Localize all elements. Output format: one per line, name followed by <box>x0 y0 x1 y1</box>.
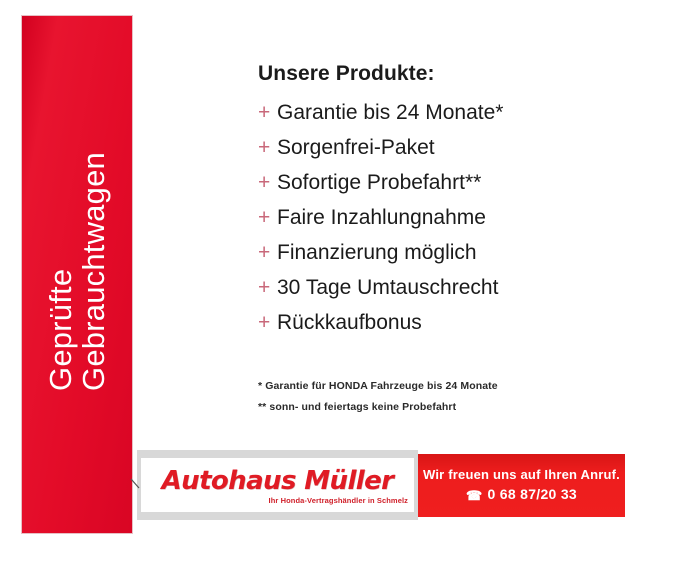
feature-label: Faire Inzahlungnahme <box>277 207 486 228</box>
footer-band: Autohaus Müller Ihr Honda-Vertragshändle… <box>137 450 625 520</box>
list-item: + Garantie bis 24 Monate* <box>258 95 678 130</box>
list-item: + Rückkaufbonus <box>258 305 678 340</box>
plus-icon: + <box>258 312 277 333</box>
plus-icon: + <box>258 277 277 298</box>
plus-icon: + <box>258 102 277 123</box>
phone-banner: Wir freuen uns auf Ihren Anruf. ☎ 0 68 8… <box>418 454 625 517</box>
footnote-double-asterisk: ** sonn- und feiertags keine Probefahrt <box>258 402 678 423</box>
list-item: + 30 Tage Umtauschrecht <box>258 270 678 305</box>
list-item: + Faire Inzahlungnahme <box>258 200 678 235</box>
feature-label: Finanzierung möglich <box>277 242 477 263</box>
plus-icon: + <box>258 242 277 263</box>
dealer-logo-box: Autohaus Müller Ihr Honda-Vertragshändle… <box>137 450 418 520</box>
dealer-name: Autohaus Müller <box>162 468 394 494</box>
feature-list: + Garantie bis 24 Monate* + Sorgenfrei-P… <box>258 95 678 340</box>
dealer-tagline: Ihr Honda-Vertragshändler in Schmelz <box>269 496 414 505</box>
vertical-banner-label: Geprüfte Gebrauchtwagen <box>44 152 111 397</box>
footnotes-section: * Garantie für HONDA Fahrzeuge bis 24 Mo… <box>258 381 678 422</box>
feature-label: Garantie bis 24 Monate* <box>277 102 503 123</box>
feature-label: Sofortige Probefahrt** <box>277 172 481 193</box>
vertical-banner-text-wrapper: Geprüfte Gebrauchtwagen <box>22 16 132 533</box>
vertical-red-banner: Geprüfte Gebrauchtwagen <box>22 16 132 533</box>
phone-banner-message: Wir freuen uns auf Ihren Anruf. <box>423 468 620 482</box>
footnote-single-asterisk: * Garantie für HONDA Fahrzeuge bis 24 Mo… <box>258 381 678 402</box>
dealer-logo-inner: Autohaus Müller Ihr Honda-Vertragshändle… <box>141 458 414 512</box>
feature-label: 30 Tage Umtauschrecht <box>277 277 498 298</box>
tick-mark-icon <box>130 478 141 490</box>
feature-label: Sorgenfrei-Paket <box>277 137 435 158</box>
feature-label: Rückkaufbonus <box>277 312 422 333</box>
list-item: + Sorgenfrei-Paket <box>258 130 678 165</box>
list-item: + Sofortige Probefahrt** <box>258 165 678 200</box>
plus-icon: + <box>258 207 277 228</box>
phone-number: 0 68 87/20 33 <box>487 487 577 502</box>
telephone-icon: ☎ <box>466 489 483 502</box>
phone-banner-number-row: ☎ 0 68 87/20 33 <box>466 487 577 502</box>
plus-icon: + <box>258 172 277 193</box>
list-item: + Finanzierung möglich <box>258 235 678 270</box>
page-title: Unsere Produkte: <box>258 62 678 86</box>
advertisement-page: Geprüfte Gebrauchtwagen Unsere Produkte:… <box>0 0 700 576</box>
plus-icon: + <box>258 137 277 158</box>
product-list-section: Unsere Produkte: + Garantie bis 24 Monat… <box>258 62 678 340</box>
